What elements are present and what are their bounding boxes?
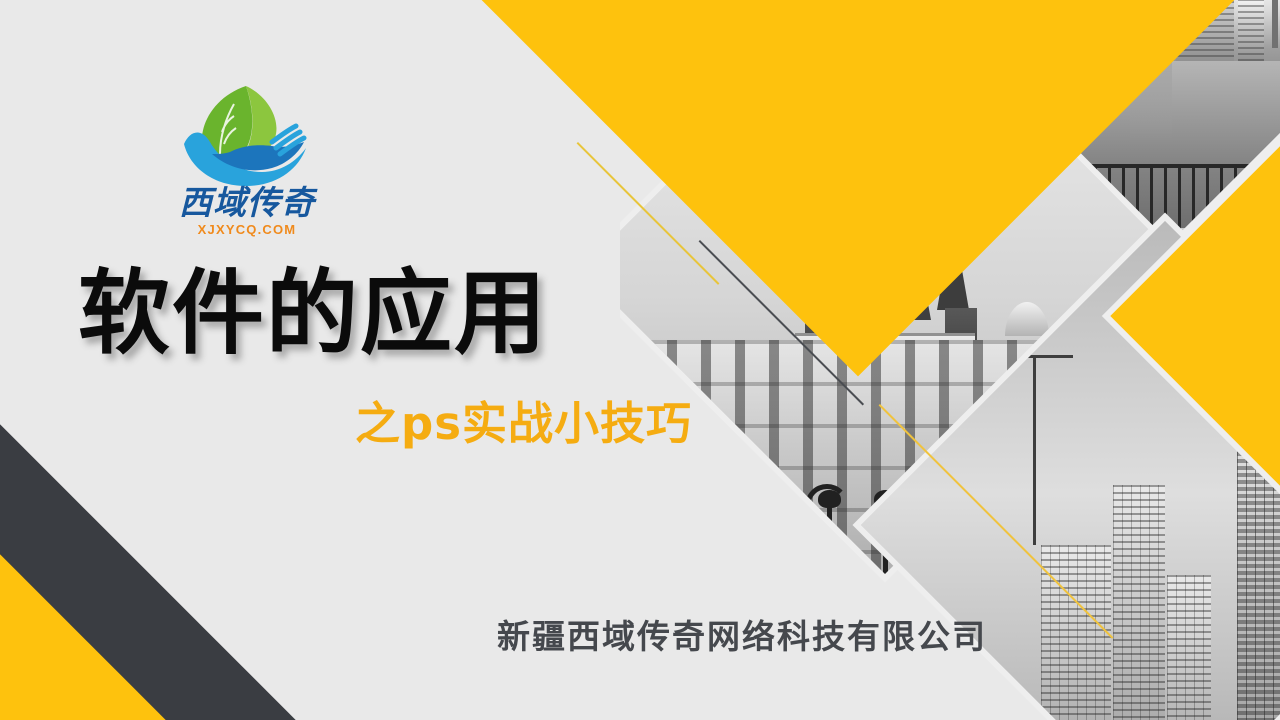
leaf-and-hands-icon: [176, 82, 316, 194]
presentation-title-slide: 西域传奇 XJXYCQ.COM 软件的应用 之ps实战小技巧 新疆西域传奇网络科…: [0, 0, 1280, 720]
company-name: 新疆西域传奇网络科技有限公司: [497, 620, 987, 653]
page-title: 软件的应用: [78, 268, 548, 360]
xjxycq-logo: 西域传奇 XJXYCQ.COM: [152, 82, 342, 252]
logo-wordmark: 西域传奇 XJXYCQ.COM: [152, 186, 342, 237]
page-subtitle: 之ps实战小技巧: [355, 401, 692, 446]
logo-wordmark-cn: 西域传奇: [152, 186, 342, 221]
logo-wordmark-url: XJXYCQ.COM: [152, 222, 342, 237]
